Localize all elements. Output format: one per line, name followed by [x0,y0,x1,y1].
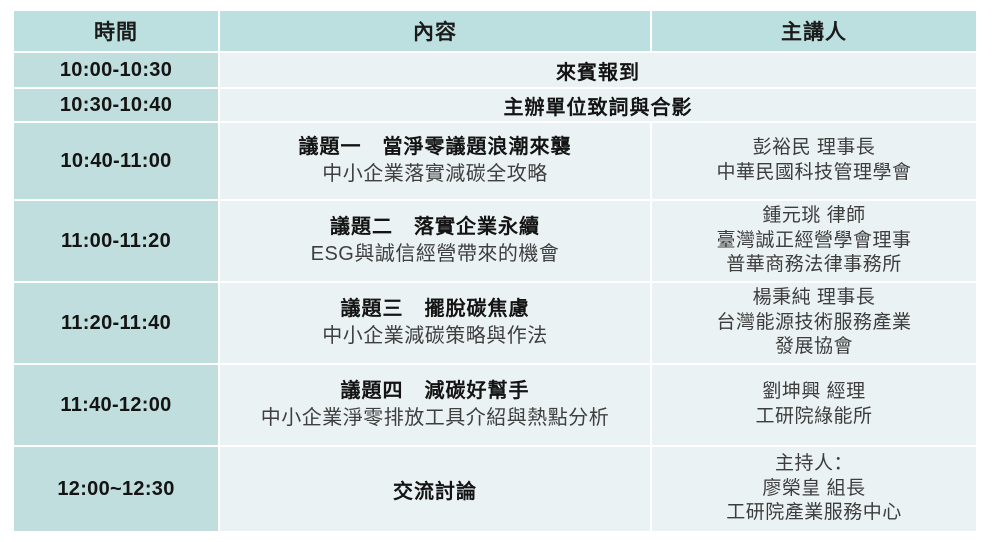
cell-speaker: 楊秉純 理事長 台灣能源技術服務產業 發展協會 [652,283,978,365]
speaker-affiliation-2: 普華商務法律事務所 [652,253,976,278]
table-row: 10:00-10:30 來賓報到 [14,53,978,89]
topic-subtitle: 中小企業減碳策略與作法 [220,323,650,350]
column-header-topic: 內容 [220,11,652,53]
table-row: 11:40-12:00 議題四 減碳好幫手 中小企業淨零排放工具介紹與熱點分析 … [14,365,978,447]
speaker-name: 鍾元珧 律師 [652,204,976,229]
cell-topic: 議題四 減碳好幫手 中小企業淨零排放工具介紹與熱點分析 [220,365,652,447]
cell-topic: 議題一 當淨零議題浪潮來襲 中小企業落實減碳全攻略 [220,123,652,201]
agenda-page: 時間 內容 主講人 10:00-10:30 來賓報到 10:30-10:40 主… [0,0,992,542]
topic-title: 議題二 落實企業永續 [220,214,650,241]
speaker-name: 彭裕民 理事長 [652,136,976,161]
cell-time: 10:40-11:00 [14,123,220,201]
topic-title: 來賓報到 [556,62,640,84]
cell-topic: 議題三 擺脫碳焦慮 中小企業減碳策略與作法 [220,283,652,365]
table-body: 10:00-10:30 來賓報到 10:30-10:40 主辦單位致詞與合影 1… [14,53,978,533]
topic-title: 議題三 擺脫碳焦慮 [220,296,650,323]
topic-title: 主辦單位致詞與合影 [504,97,693,119]
cell-time: 10:30-10:40 [14,89,220,123]
moderator-label: 主持人： [652,452,976,477]
table-row: 10:40-11:00 議題一 當淨零議題浪潮來襲 中小企業落實減碳全攻略 彭裕… [14,123,978,201]
cell-time: 10:00-10:30 [14,53,220,89]
cell-topic: 交流討論 [220,447,652,533]
topic-title: 議題四 減碳好幫手 [220,378,650,405]
topic-title: 議題一 當淨零議題浪潮來襲 [220,134,650,161]
table-head: 時間 內容 主講人 [14,11,978,53]
table-row: 11:20-11:40 議題三 擺脫碳焦慮 中小企業減碳策略與作法 楊秉純 理事… [14,283,978,365]
topic-subtitle: ESG與誠信經營帶來的機會 [220,241,650,268]
cell-speaker: 彭裕民 理事長 中華民國科技管理學會 [652,123,978,201]
cell-topic: 議題二 落實企業永續 ESG與誠信經營帶來的機會 [220,201,652,283]
speaker-affiliation: 工研院產業服務中心 [652,501,976,526]
cell-time: 11:40-12:00 [14,365,220,447]
table-row: 12:00~12:30 交流討論 主持人： 廖榮皇 組長 工研院產業服務中心 [14,447,978,533]
topic-subtitle: 中小企業淨零排放工具介紹與熱點分析 [220,405,650,432]
speaker-affiliation-2: 發展協會 [652,335,976,360]
speaker-affiliation: 台灣能源技術服務產業 [652,311,976,336]
column-header-time: 時間 [14,11,220,53]
speaker-affiliation: 中華民國科技管理學會 [652,161,976,186]
cell-speaker: 主持人： 廖榮皇 組長 工研院產業服務中心 [652,447,978,533]
table-row: 11:00-11:20 議題二 落實企業永續 ESG與誠信經營帶來的機會 鍾元珧… [14,201,978,283]
table-header-row: 時間 內容 主講人 [14,11,978,53]
cell-time: 12:00~12:30 [14,447,220,533]
speaker-affiliation: 臺灣誠正經營學會理事 [652,229,976,254]
speaker-name: 楊秉純 理事長 [652,286,976,311]
topic-title: 交流討論 [393,481,477,503]
agenda-table: 時間 內容 主講人 10:00-10:30 來賓報到 10:30-10:40 主… [14,11,978,533]
cell-speaker: 鍾元珧 律師 臺灣誠正經營學會理事 普華商務法律事務所 [652,201,978,283]
cell-time: 11:00-11:20 [14,201,220,283]
cell-topic-merged: 來賓報到 [220,53,978,89]
speaker-name: 廖榮皇 組長 [652,477,976,502]
table-row: 10:30-10:40 主辦單位致詞與合影 [14,89,978,123]
speaker-affiliation: 工研院綠能所 [652,405,976,430]
cell-time: 11:20-11:40 [14,283,220,365]
column-header-speaker: 主講人 [652,11,978,53]
speaker-name: 劉坤興 經理 [652,380,976,405]
topic-subtitle: 中小企業落實減碳全攻略 [220,161,650,188]
cell-speaker: 劉坤興 經理 工研院綠能所 [652,365,978,447]
cell-topic-merged: 主辦單位致詞與合影 [220,89,978,123]
